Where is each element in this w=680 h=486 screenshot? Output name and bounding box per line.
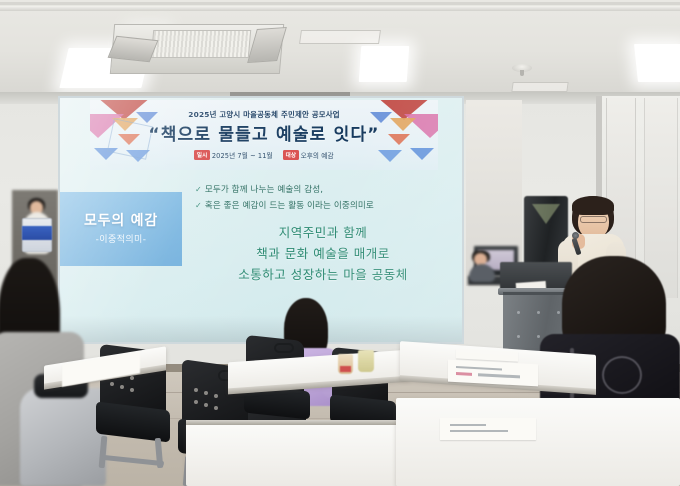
banner-meta-value-date: 2025년 7월 ~ 11월: [212, 152, 273, 160]
microphone-head: [572, 232, 579, 239]
air-conditioner-vent-left: [108, 36, 159, 62]
slide-bullet-item-1: ✓모두가 함께 나누는 예술의 감성,: [195, 182, 462, 198]
cooler-box-band: [22, 226, 52, 240]
slide-left-card-title: 모두의 예감: [60, 210, 182, 230]
slide-bullet-text-2: 혹은 좋은 예감이 드는 활동 이라는 이중의미로: [205, 201, 374, 211]
draped-jacket: [20, 388, 106, 486]
snack-accent: [340, 366, 351, 372]
air-conditioner-grill: [151, 30, 251, 58]
banner-title: “책으로 물들고 예술로 잇다”: [90, 120, 438, 145]
ceiling-rail-upper: [0, 2, 680, 5]
attendee-behind-podium: [470, 250, 494, 280]
projection-screen: 2025년 고양시 마을공동체 주민제안 공모사업 “책으로 물들고 예술로 잇…: [60, 98, 462, 342]
document-right-1: [448, 360, 538, 387]
slide-bullet-item-2: ✓혹은 좋은 예감이 드는 활동 이라는 이중의미로: [195, 198, 462, 214]
check-icon: ✓: [195, 185, 202, 194]
slide-bullet-text-1: 모두가 함께 나누는 예술의 감성,: [205, 185, 323, 195]
slide-center-block: 지역주민과 함께 책과 문화 예술을 매개로 소통하고 성장하는 마을 공동체: [178, 222, 462, 285]
banner-meta-value-target: 오후의 예감: [301, 152, 334, 160]
document-right-2: [440, 418, 536, 440]
slide-center-line-2: 책과 문화 예술을 매개로: [178, 243, 462, 264]
ceiling-rail: [0, 6, 680, 11]
banner-meta-tag-target: 대상: [283, 150, 299, 160]
presenter-hair-front: [572, 196, 614, 215]
banner-meta-row: 일시2025년 7월 ~ 11월 대상오후의 예감: [90, 150, 438, 160]
photo-scene: 2025년 고양시 마을공동체 주민제안 공모사업 “책으로 물들고 예술로 잇…: [0, 0, 680, 486]
ceiling-vent-frame-right: [511, 82, 568, 92]
ceiling-light-3: [634, 44, 680, 82]
slide-left-card-subtitle: -이중적의미-: [60, 232, 182, 245]
check-icon: ✓: [195, 201, 202, 210]
drink-cup: [358, 350, 374, 372]
slide-left-card: 모두의 예감 -이중적의미-: [60, 192, 182, 266]
speaker-cone: [532, 204, 560, 224]
jacket-embroidery-1: [602, 356, 642, 394]
slide-center-line-3: 소통하고 성장하는 마을 공동체: [178, 264, 462, 285]
slide-center-line-1: 지역주민과 함께: [178, 222, 462, 243]
presenter-glasses: [580, 216, 607, 223]
slide-banner: 2025년 고양시 마을공동체 주민제안 공모사업 “책으로 물들고 예술로 잇…: [90, 100, 438, 170]
ceiling-duct-frame: [299, 30, 381, 44]
slide-bullet-list: ✓모두가 함께 나누는 예술의 감성, ✓혹은 좋은 예감이 드는 활동 이라는…: [195, 182, 462, 214]
table-right-lower: [396, 398, 680, 486]
banner-meta-tag-date: 일시: [194, 150, 210, 160]
ceiling-sprinkler: [512, 64, 532, 72]
banner-subtitle: 2025년 고양시 마을공동체 주민제안 공모사업: [90, 109, 438, 120]
ceiling-light-2: [359, 46, 410, 82]
chair-handle-icon: [274, 343, 294, 353]
